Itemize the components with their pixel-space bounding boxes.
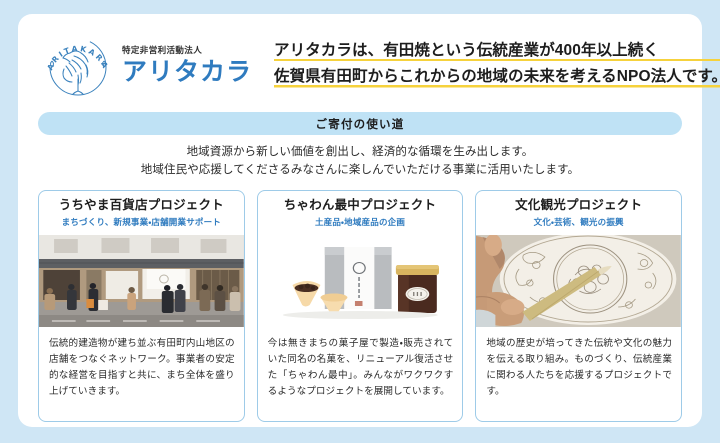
content-sheet: ARITAKARA bbox=[18, 14, 702, 427]
project-card-body: 地域の歴史が培ってきた伝統や文化の魅力を伝える取り組み。ものづくり、伝統産業に関… bbox=[476, 327, 681, 420]
section-banner: ご寄付の使い道 bbox=[38, 112, 682, 135]
project-card-body: 今は無きまちの菓子屋で製造・販売されていた同名の名菓を、リニューアル復活させた「… bbox=[258, 327, 463, 420]
traditional-storefront-street-photo bbox=[39, 235, 244, 327]
project-card-header: うちやま百貨店プロジェクト まちづくり、新規事業・店舗開業サポート bbox=[39, 191, 244, 236]
headline-line-1: アリタカラは、有田焼という伝統産業が400年以上続く bbox=[274, 43, 720, 62]
crane-circle-logo-icon: ARITAKARA bbox=[40, 29, 116, 101]
project-card-header: 文化観光プロジェクト 文化・芸術、観光の振興 bbox=[476, 191, 681, 236]
project-card-title: うちやま百貨店プロジェクト bbox=[43, 199, 240, 213]
project-card-title: ちゃわん最中プロジェクト bbox=[262, 199, 459, 213]
project-card-header: ちゃわん最中プロジェクト 土産品・地域産品の企画 bbox=[258, 191, 463, 236]
project-card[interactable]: ちゃわん最中プロジェクト 土産品・地域産品の企画 bbox=[257, 190, 464, 422]
intro-paragraph: 地域資源から新しい価値を創出し、経済的な循環を生み出します。 地域住民や応援して… bbox=[36, 135, 684, 188]
section-banner-label: ご寄付の使い道 bbox=[316, 116, 405, 132]
project-card[interactable]: 文化観光プロジェクト 文化・芸術、観光の振興 bbox=[475, 190, 682, 422]
intro-line-2: 地域住民や応援してくださるみなさんに楽しんでいただける事業に活用いたします。 bbox=[36, 162, 684, 180]
brand-text-block: 特定非営利活動法人 アリタカラ bbox=[116, 46, 252, 84]
organization-type: 特定非営利活動法人 bbox=[122, 46, 252, 55]
project-card-title: 文化観光プロジェクト bbox=[480, 199, 677, 213]
headline-block: アリタカラは、有田焼という伝統産業が400年以上続く 佐賀県有田町からこれからの… bbox=[268, 43, 720, 88]
page-root: ARITAKARA bbox=[0, 0, 720, 443]
monaka-sweets-product-photo bbox=[258, 235, 463, 327]
project-card-subtitle: まちづくり、新規事業・店舗開業サポート bbox=[43, 216, 240, 228]
porcelain-painting-craft-photo bbox=[476, 235, 681, 327]
project-card-subtitle: 土産品・地域産品の企画 bbox=[262, 216, 459, 228]
page-header: ARITAKARA bbox=[36, 28, 684, 102]
intro-line-1: 地域資源から新しい価値を創出し、経済的な循環を生み出します。 bbox=[36, 144, 684, 162]
project-card-description: 地域の歴史が培ってきた伝統や文化の魅力を伝える取り組み。ものづくり、伝統産業に関… bbox=[486, 336, 672, 399]
project-card[interactable]: うちやま百貨店プロジェクト まちづくり、新規事業・店舗開業サポート bbox=[38, 190, 245, 422]
project-card-subtitle: 文化・芸術、観光の振興 bbox=[480, 216, 677, 228]
organization-name: アリタカラ bbox=[122, 59, 252, 84]
project-card-body: 伝統的建造物が建ち並ぶ有田町内山地区の店舗をつなぐネットワーク。事業者の安定的な… bbox=[39, 327, 244, 420]
project-card-description: 伝統的建造物が建ち並ぶ有田町内山地区の店舗をつなぐネットワーク。事業者の安定的な… bbox=[49, 336, 235, 399]
project-card-list: うちやま百貨店プロジェクト まちづくり、新規事業・店舗開業サポート bbox=[36, 188, 684, 422]
project-card-description: 今は無きまちの菓子屋で製造・販売されていた同名の名菓を、リニューアル復活させた「… bbox=[268, 336, 454, 399]
headline-line-2: 佐賀県有田町からこれからの地域の未来を考えるNPO法人です。 bbox=[274, 69, 720, 88]
brand-block: ARITAKARA bbox=[40, 29, 268, 101]
